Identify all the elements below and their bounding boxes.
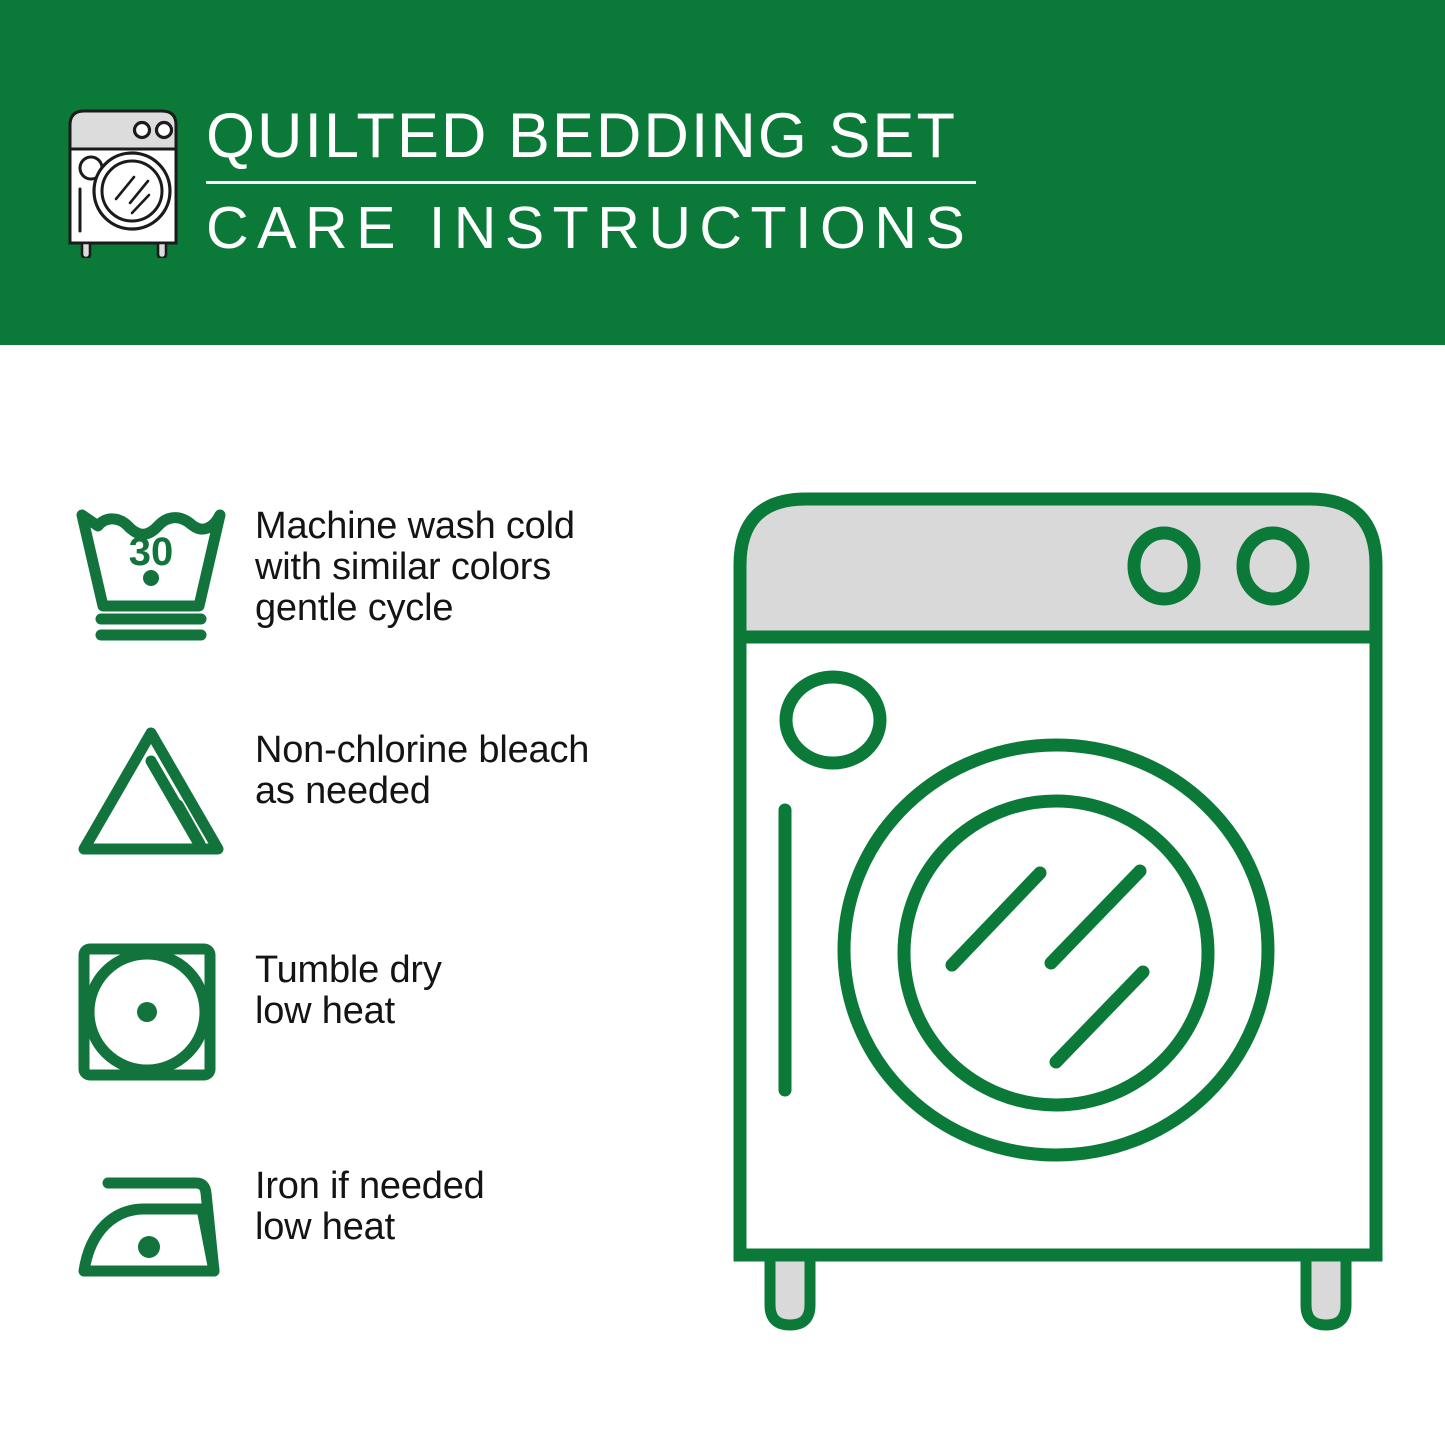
title-divider (206, 181, 976, 184)
care-label-iron: Iron if needed low heat (255, 1153, 485, 1248)
wash-tub-30-gentle-icon: 30 (68, 493, 233, 643)
header-banner: QUILTED BEDDING SET CARE INSTRUCTIONS (0, 0, 1445, 345)
iron-low-heat-icon (68, 1153, 233, 1303)
care-label-line: Machine wash cold (255, 506, 575, 547)
care-label-tumble-dry: Tumble dry low heat (255, 937, 442, 1032)
knob-right (1243, 533, 1303, 599)
washing-machine-illustration (728, 485, 1388, 1345)
care-label-line: Non-chlorine bleach (255, 730, 589, 771)
tumble-dry-low-heat-icon (68, 937, 233, 1087)
header-title-group: QUILTED BEDDING SET CARE INSTRUCTIONS (206, 100, 996, 263)
care-label-line: Tumble dry (255, 950, 442, 991)
care-label-line: low heat (255, 991, 442, 1032)
wash-temperature-label: 30 (129, 530, 174, 574)
care-label-bleach: Non-chlorine bleach as needed (255, 717, 589, 812)
detergent-indicator (786, 677, 880, 763)
care-instructions-infographic: QUILTED BEDDING SET CARE INSTRUCTIONS 30 (0, 0, 1445, 1445)
care-row-iron: Iron if needed low heat (0, 1153, 700, 1303)
care-row-bleach: Non-chlorine bleach as needed (0, 717, 700, 867)
care-label-line: Iron if needed (255, 1166, 485, 1207)
iron-heat-dot-icon (138, 1236, 160, 1258)
page-subtitle: CARE INSTRUCTIONS (206, 193, 996, 263)
non-chlorine-bleach-triangle-icon (68, 717, 233, 867)
tumble-dry-heat-dot-icon (137, 1002, 157, 1022)
care-label-machine-wash: Machine wash cold with similar colors ge… (255, 493, 575, 629)
care-row-tumble-dry: Tumble dry low heat (0, 937, 700, 1087)
care-instruction-list: 30 Machine wash cold with similar colors… (0, 345, 700, 1445)
care-row-machine-wash: 30 Machine wash cold with similar colors… (0, 493, 700, 643)
wash-dot-icon (143, 570, 159, 586)
care-label-line: low heat (255, 1207, 485, 1248)
care-label-line: gentle cycle (255, 588, 575, 629)
washing-machine-icon (64, 103, 188, 258)
care-label-line: with similar colors (255, 547, 575, 588)
care-label-line: as needed (255, 771, 589, 812)
knob-left (1134, 533, 1194, 599)
page-title: QUILTED BEDDING SET (206, 100, 996, 172)
